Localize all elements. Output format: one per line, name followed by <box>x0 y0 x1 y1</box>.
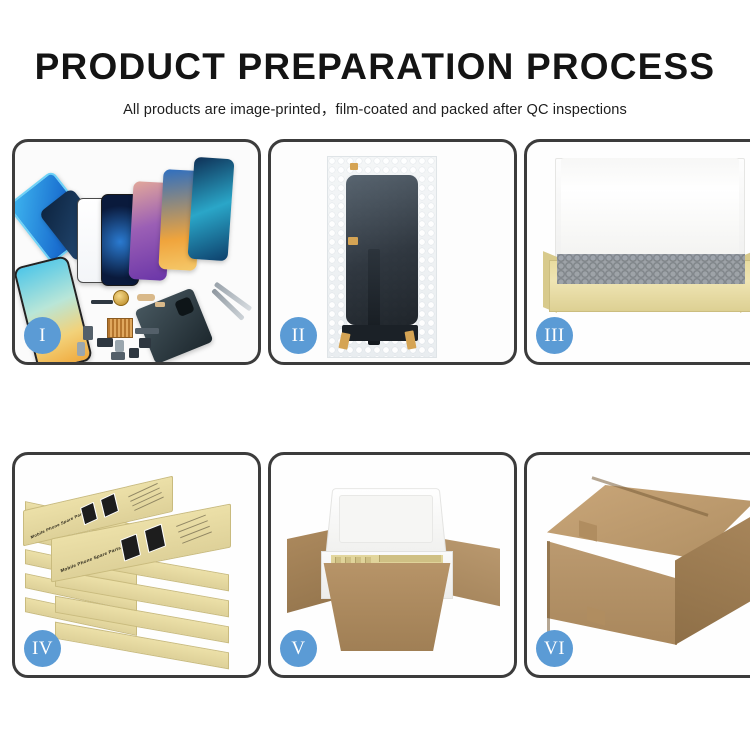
carton-front-edge <box>547 541 550 637</box>
step-badge-4: IV <box>24 630 61 667</box>
styrofoam-lid-inset <box>339 495 433 543</box>
box-text-line-5 <box>176 515 206 527</box>
step-badge-2: II <box>280 317 317 354</box>
part-chip <box>139 338 151 348</box>
packed-box-row-1 <box>379 555 441 562</box>
step-panel-5: V <box>268 452 517 678</box>
part-taptic <box>129 348 139 358</box>
foam-lid-top <box>561 158 739 192</box>
step-panel-1: I <box>12 139 261 365</box>
process-steps-grid: I II <box>12 139 740 679</box>
speaker-coil-part <box>113 290 129 306</box>
tape-tab-mid <box>348 237 358 245</box>
part-camera <box>115 340 124 352</box>
step-panel-2: II <box>268 139 517 365</box>
tape-tab-bottom-left <box>338 332 350 350</box>
foam-sheet <box>561 190 739 262</box>
box-screen-thumb-2 <box>100 493 119 518</box>
box-text-line-8 <box>182 531 212 543</box>
product-preparation-infographic: PRODUCT PREPARATION PROCESS All products… <box>0 0 750 750</box>
box-screen-thumb-4 <box>144 524 166 554</box>
step-badge-3: III <box>536 317 573 354</box>
box-label-front: Mobile Phone Spare Parts <box>60 545 121 573</box>
header: PRODUCT PREPARATION PROCESS All products… <box>0 0 750 118</box>
part-button <box>77 342 85 356</box>
bubble-cushion-contents <box>557 254 745 284</box>
part-flex-cable <box>135 328 159 334</box>
step-panel-4: Mobile Phone Spare Parts Mobile Phone Sp… <box>12 452 261 678</box>
box-text-line-7 <box>180 526 210 538</box>
step-badge-1: I <box>24 317 61 354</box>
carton-body <box>315 563 459 651</box>
box-screen-thumb-1 <box>80 502 98 526</box>
page-title: PRODUCT PREPARATION PROCESS <box>0 0 750 85</box>
part-speaker <box>111 352 125 360</box>
part-bracket-2 <box>97 338 113 347</box>
box-screen-thumb-3 <box>120 533 141 561</box>
part-bracket-1 <box>83 326 93 340</box>
tape-tab-top <box>350 163 358 170</box>
sealed-carton-front <box>547 541 677 645</box>
part-strip-1 <box>91 300 113 304</box>
box-text-line-6 <box>178 520 208 532</box>
step-panel-3: III <box>524 139 750 365</box>
copper-grid-part <box>107 318 133 338</box>
phone-teal <box>187 157 234 262</box>
part-flex-tan-2 <box>155 302 165 307</box>
page-subtitle: All products are image-printed，film-coat… <box>0 85 750 118</box>
step-badge-6: VI <box>536 630 573 667</box>
step-badge-5: V <box>280 630 317 667</box>
step-panel-6: VI <box>524 452 750 678</box>
bubble-wrap-bag <box>327 156 437 358</box>
wrapped-screen-assembly <box>346 175 418 325</box>
part-flex-tan <box>137 294 155 301</box>
